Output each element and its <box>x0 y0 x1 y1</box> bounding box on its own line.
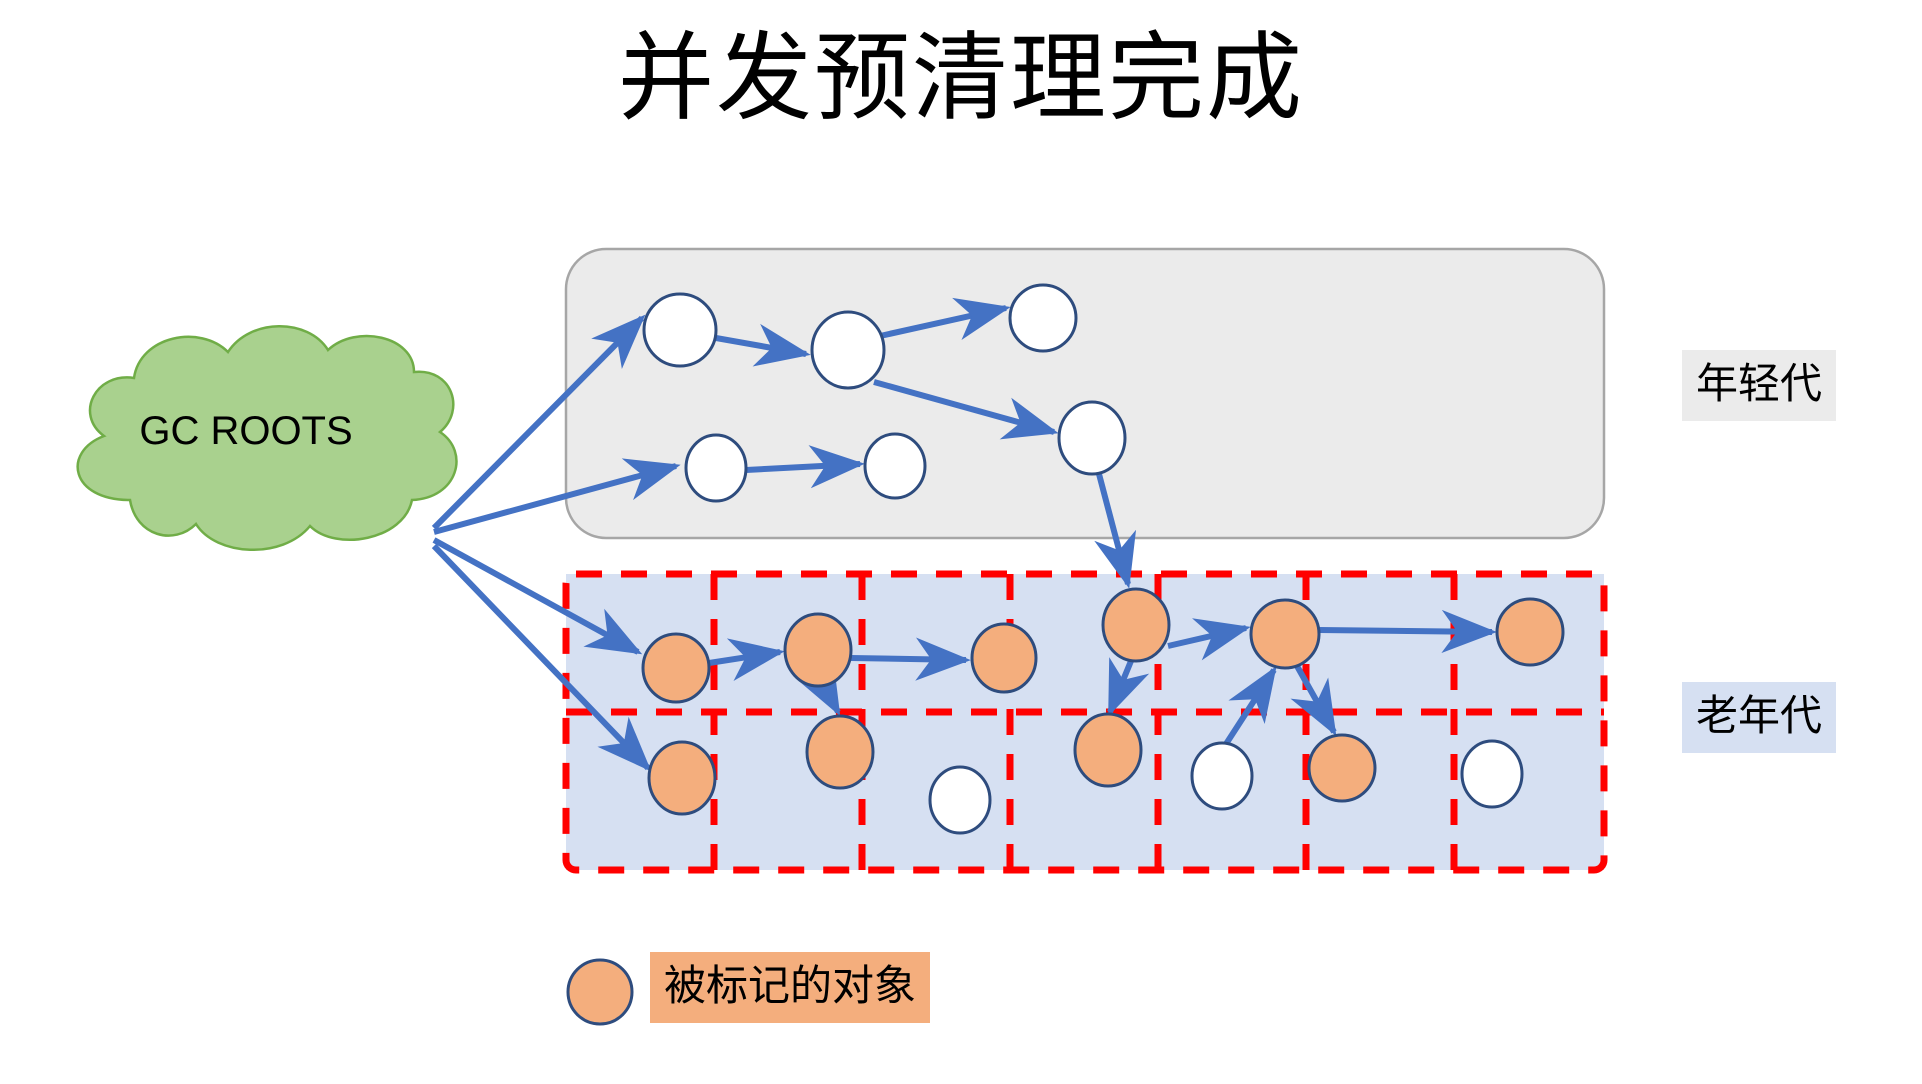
object-node-unmarked[interactable] <box>1192 743 1252 809</box>
young-generation-label: 年轻代 <box>1682 350 1836 421</box>
object-node-unmarked[interactable] <box>686 435 746 501</box>
object-node-marked[interactable] <box>1075 714 1141 786</box>
legend-marked-object-label: 被标记的对象 <box>650 952 930 1023</box>
object-node-unmarked[interactable] <box>812 312 884 388</box>
object-node-unmarked[interactable] <box>865 434 925 498</box>
object-node-unmarked[interactable] <box>1010 285 1076 351</box>
object-node-marked[interactable] <box>785 614 851 686</box>
object-node-marked[interactable] <box>649 742 715 814</box>
object-node-unmarked[interactable] <box>644 294 716 366</box>
object-node-marked[interactable] <box>1309 735 1375 801</box>
object-node-marked[interactable] <box>1251 600 1319 668</box>
object-node-marked[interactable] <box>972 624 1036 692</box>
object-node-marked[interactable] <box>807 716 873 788</box>
object-node-unmarked[interactable] <box>1462 741 1522 807</box>
old-generation-label: 老年代 <box>1682 682 1836 753</box>
gc-roots-cloud[interactable]: GC ROOTS <box>78 326 457 550</box>
edge-o5-to-o6 <box>1319 630 1492 632</box>
slide-canvas: 并发预清理完成 GC ROOTS <box>0 0 1922 1084</box>
legend-marked-object-swatch <box>568 960 632 1024</box>
object-node-unmarked[interactable] <box>930 767 990 833</box>
memory-diagram: GC ROOTS <box>0 0 1922 1084</box>
old-generation-region <box>566 574 1604 870</box>
object-node-marked[interactable] <box>1497 599 1563 665</box>
gc-roots-label: GC ROOTS <box>139 409 352 453</box>
object-node-unmarked[interactable] <box>1059 402 1125 474</box>
edge-o2-to-o3 <box>851 658 966 660</box>
object-node-marked[interactable] <box>1103 589 1169 661</box>
object-node-marked[interactable] <box>643 634 709 702</box>
